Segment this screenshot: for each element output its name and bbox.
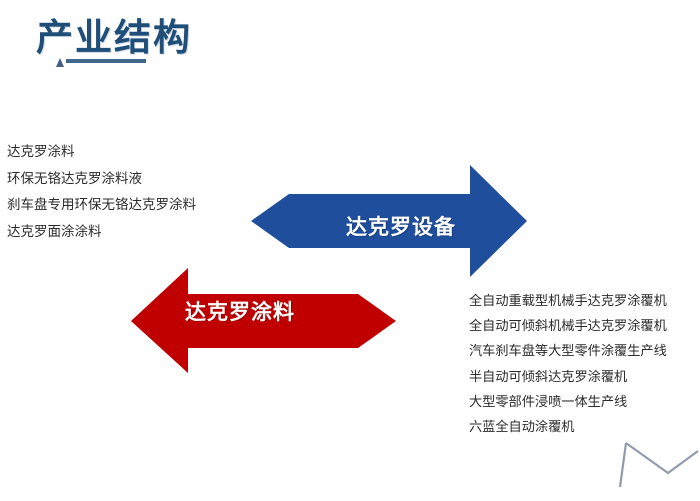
- page-title: 产业结构: [36, 17, 192, 60]
- list-item: 刹车盘专用环保无铬达克罗涂料: [7, 198, 267, 212]
- slide-canvas: 产业结构 达克罗涂料 环保无铬达克罗涂料液 刹车盘专用环保无铬达克罗涂料 达克罗…: [0, 0, 700, 501]
- left-product-list: 达克罗涂料 环保无铬达克罗涂料液 刹车盘专用环保无铬达克罗涂料 达克罗面涂涂料: [7, 145, 267, 251]
- blue-arrow-label: 达克罗设备: [346, 211, 456, 241]
- list-item: 大型零部件浸喷一体生产线: [469, 395, 700, 408]
- red-arrow-label: 达克罗涂料: [185, 296, 295, 326]
- list-item: 达克罗涂料: [7, 145, 267, 159]
- list-item: 全自动可倾斜机械手达克罗涂覆机: [469, 319, 700, 332]
- list-item: 六蓝全自动涂覆机: [469, 420, 700, 433]
- chevron-outline-icon: [610, 441, 700, 501]
- list-item: 半自动可倾斜达克罗涂覆机: [469, 370, 700, 383]
- list-item: 环保无铬达克罗涂料液: [7, 172, 267, 186]
- right-equipment-list: 全自动重载型机械手达克罗涂覆机 全自动可倾斜机械手达克罗涂覆机 汽车刹车盘等大型…: [469, 294, 700, 445]
- list-item: 全自动重载型机械手达克罗涂覆机: [469, 294, 700, 307]
- list-item: 汽车刹车盘等大型零件涂覆生产线: [469, 344, 700, 357]
- list-item: 达克罗面涂涂料: [7, 225, 267, 239]
